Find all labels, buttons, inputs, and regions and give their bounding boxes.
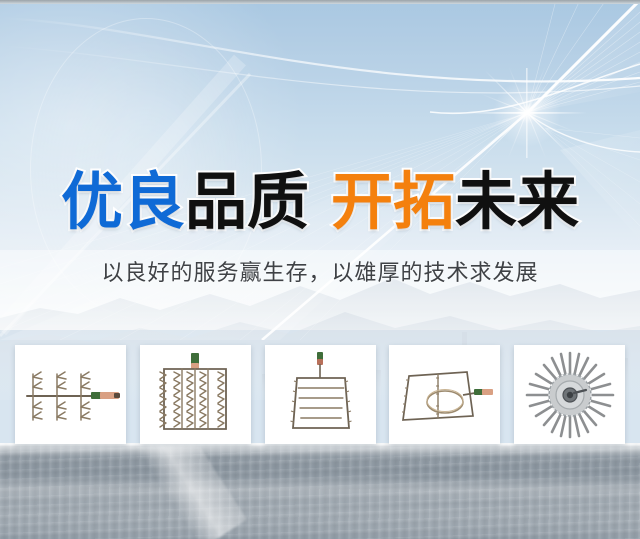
ground-highlight [0,443,640,457]
comb-rack-wire-product-icon [19,355,122,435]
flat-ladder-frame-icon [281,352,359,438]
square-ring-frame-icon [395,362,495,428]
headline-segment-3: 开拓 [331,165,455,238]
product-card-2[interactable] [140,345,251,444]
promo-banner: 优良品质开拓未来 以良好的服务赢生存，以雄厚的技术求发展 [0,0,640,539]
sunburst-hub [549,374,591,416]
product-card-5[interactable] [514,345,625,444]
headline: 优良品质开拓未来 [0,166,640,238]
headline-segment-4: 未来 [455,165,579,238]
double-row-spike-rack-icon [152,353,238,437]
top-edge-strip [0,0,640,4]
headline-segment-2: 品质 [185,165,309,238]
radial-sunburst-wheel-icon [524,351,616,439]
product-card-4[interactable] [389,345,500,444]
product-card-1[interactable] [15,345,126,444]
product-card-row [15,345,625,444]
ground-sheen [0,477,640,503]
ground-surface [0,443,640,539]
subtitle: 以良好的服务赢生存，以雄厚的技术求发展 [0,258,640,290]
product-card-3[interactable] [265,345,376,444]
headline-segment-1: 优良 [61,165,185,238]
swoosh-curve-1 [0,18,640,81]
